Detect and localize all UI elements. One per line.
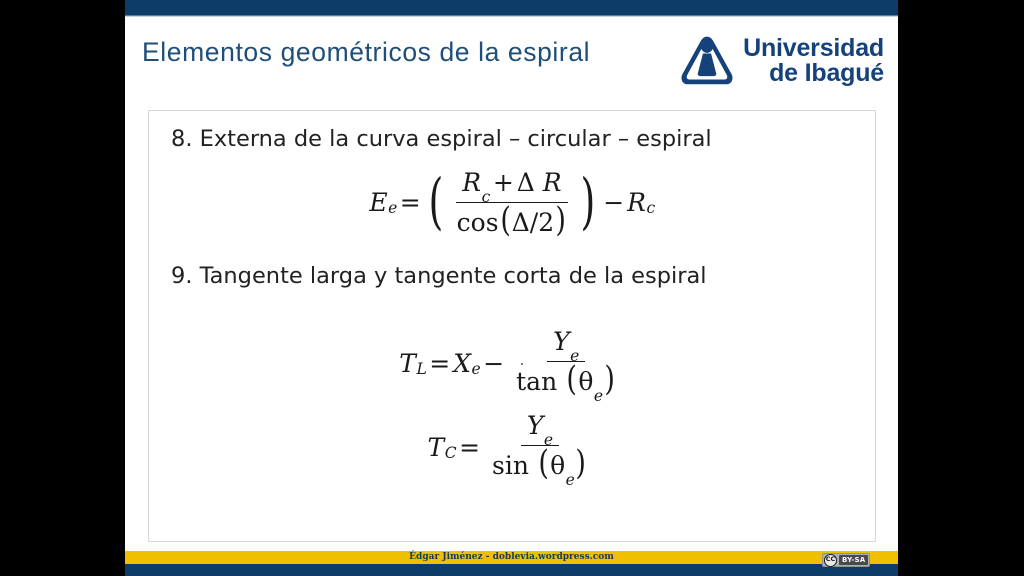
slide-header: Elementos geométricos de la espiral Univ… [125,17,898,101]
theta-right-paren-2: ) [576,448,587,478]
logo-line-1: Universidad [743,36,884,62]
cc-license-label: BY-SA [839,555,868,565]
left-paren: ( [428,178,443,226]
slide-viewer: Elementos geométricos de la espiral Univ… [0,0,1024,576]
right-paren: ) [581,178,596,226]
symbol-theta2: θ [550,451,565,480]
creative-commons-badge: CC BY-SA [822,553,870,567]
content-box: 8. Externa de la curva espiral – circula… [148,110,876,542]
operator-minus-2: − [480,349,507,378]
fraction-numerator: Rc+Δ R [456,168,567,203]
fraction-externa: Rc+Δ R cos(Δ/2) [451,168,574,237]
symbol-R3: R [627,188,646,217]
symbol-E: E [369,188,387,217]
operator-equals-2: = [426,349,453,378]
list-item-8: 8. Externa de la curva espiral – circula… [171,126,712,152]
inner-left-paren: ( [500,205,511,235]
university-logo: Universidad de Ibagué [678,21,884,101]
function-cos: cos [457,208,499,237]
equation-tangente-larga: TL = Xe − Ye tan (θe) [149,327,875,400]
operator-slash: / [530,208,538,237]
list-item-9: 9. Tangente larga y tangente corta de la… [171,263,707,289]
footer-credit: Édgar Jiménez - doblevia.wordpress.com [125,551,898,564]
symbol-theta: θ [578,367,593,396]
subscript-e: e [388,199,397,217]
fraction-tangente-larga: Ye tan (θe) [510,327,622,400]
inner-right-paren: ) [555,205,566,235]
presentation-slide: Elementos geométricos de la espiral Univ… [125,0,898,576]
theta-right-paren: ) [604,364,615,394]
equation-tangente-corta: TC = Ye sin (θe) [149,411,875,484]
operator-equals: = [397,188,424,217]
symbol-delta: Δ [517,168,535,197]
number-two: 2 [538,208,554,237]
cc-icon: CC [824,554,837,567]
operator-equals-3: = [456,433,483,462]
subscript-L: L [416,360,426,378]
fraction-denominator-3: sin (θe) [486,446,593,484]
symbol-Y2: Y [527,411,544,440]
fraction-tangente-corta: Ye sin (θe) [486,411,593,484]
logo-line-2: de Ibagué [743,61,884,87]
symbol-T2: T [428,433,445,462]
fraction-numerator-2: Ye [547,327,585,362]
symbol-R2: R [543,168,562,197]
symbol-delta2: Δ [512,208,530,237]
subscript-e6: e [566,471,575,489]
subscript-c: c [482,188,491,206]
symbol-X: X [453,349,471,378]
operator-plus: + [490,168,517,197]
fraction-denominator: cos(Δ/2) [451,203,574,237]
equation-externa: Ee = ( Rc+Δ R cos(Δ/2) ) − Rc [149,168,875,237]
fraction-denominator-2: tan (θe) [510,362,622,400]
stray-mark [521,363,523,365]
subscript-C: C [445,444,457,462]
function-sin: sin [492,451,529,480]
fraction-numerator-3: Ye [521,411,559,446]
theta-left-paren: ( [566,364,577,394]
triangle-figure-icon [678,32,736,90]
operator-minus: − [600,188,627,217]
page-title: Elementos geométricos de la espiral [142,37,590,68]
subscript-e4: e [594,387,603,405]
symbol-R: R [462,168,481,197]
symbol-Y: Y [553,327,570,356]
top-accent-bar [125,0,898,15]
theta-left-paren-2: ( [538,448,549,478]
subscript-c2: c [646,199,655,217]
subscript-e2: e [472,360,481,378]
letterbox-right [898,0,1024,576]
letterbox-left [0,0,125,576]
university-logo-text: Universidad de Ibagué [743,36,884,87]
footer-accent-navy [125,564,898,576]
function-tan: tan [516,367,557,396]
symbol-T: T [399,349,416,378]
